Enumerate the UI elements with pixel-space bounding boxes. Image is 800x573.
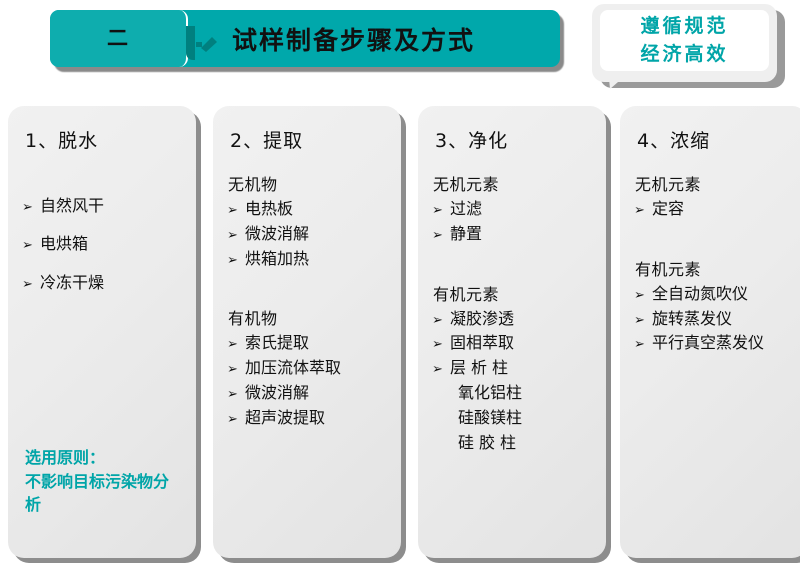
arrow-bullet-icon: ➢ — [634, 201, 652, 221]
step-bullet-list: ➢过滤➢静置 — [432, 197, 596, 247]
step-bullet-label: 旋转蒸发仪 — [652, 307, 732, 332]
arrow-right-icon — [196, 36, 218, 52]
step-card-body: 3、净化无机元素➢过滤➢静置有机元素➢凝胶渗透➢固相萃取➢层析柱氧化铝柱硅酸镁柱… — [418, 106, 606, 558]
step-bullet-item[interactable]: ➢加压流体萃取 — [227, 356, 391, 381]
callout-line-1: 遵循规范 — [640, 13, 728, 41]
step-card-body: 2、提取无机物➢电热板➢微波消解➢烘箱加热有机物➢索氏提取➢加压流体萃取➢微波消… — [213, 106, 401, 558]
note-line-2: 不影响目标污染物分 — [25, 470, 183, 493]
step-sub-item: 硅酸镁柱 — [458, 406, 596, 431]
page-header: 二 试样制备步骤及方式 遵循规范 经济高效 — [0, 0, 800, 96]
step-group-heading: 有机元素 — [635, 256, 798, 280]
step-bullet-item[interactable]: ➢自然风干 — [22, 187, 186, 225]
step-group: 无机元素➢过滤➢静置 — [432, 171, 596, 247]
step-bullet-label: 定容 — [652, 197, 684, 222]
step-card-3[interactable]: 3、净化无机元素➢过滤➢静置有机元素➢凝胶渗透➢固相萃取➢层析柱氧化铝柱硅酸镁柱… — [418, 106, 606, 558]
step-sub-item: 氧化铝柱 — [458, 381, 596, 406]
arrow-bullet-icon: ➢ — [227, 226, 245, 246]
step-bullet-list: ➢定容 — [634, 197, 798, 222]
selection-principle-note: 选用原则：不影响目标污染物分析 — [25, 446, 183, 516]
step-bullet-item[interactable]: ➢冷冻干燥 — [22, 264, 186, 302]
step-card-1[interactable]: 1、脱水➢自然风干➢电烘箱➢冷冻干燥选用原则：不影响目标污染物分析 — [8, 106, 196, 558]
arrow-bullet-icon: ➢ — [227, 385, 245, 405]
step-group: 无机物➢电热板➢微波消解➢烘箱加热 — [227, 171, 391, 271]
step-bullet-item[interactable]: ➢静置 — [432, 222, 596, 247]
step-bullet-item[interactable]: ➢层析柱 — [432, 356, 596, 381]
step-card-2[interactable]: 2、提取无机物➢电热板➢微波消解➢烘箱加热有机物➢索氏提取➢加压流体萃取➢微波消… — [213, 106, 401, 558]
step-bullet-item[interactable]: ➢索氏提取 — [227, 331, 391, 356]
note-line-1: 选用原则： — [25, 446, 183, 469]
step-sub-item: 硅胶柱 — [458, 431, 596, 456]
step-bullet-label: 索氏提取 — [245, 331, 309, 356]
step-bullet-item[interactable]: ➢超声波提取 — [227, 406, 391, 431]
step-card-4[interactable]: 4、浓缩无机元素➢定容有机元素➢全自动氮吹仪➢旋转蒸发仪➢平行真空蒸发仪 — [620, 106, 800, 558]
step-group: 有机元素➢全自动氮吹仪➢旋转蒸发仪➢平行真空蒸发仪 — [634, 256, 798, 356]
step-card-title: 1、脱水 — [25, 126, 186, 153]
callout-tail-icon — [608, 68, 638, 90]
step-group: 有机物➢索氏提取➢加压流体萃取➢微波消解➢超声波提取 — [227, 305, 391, 430]
page-title: 试样制备步骤及方式 — [232, 10, 475, 67]
arrow-bullet-icon: ➢ — [227, 335, 245, 355]
step-group-heading: 有机元素 — [433, 281, 596, 305]
arrow-bullet-icon: ➢ — [432, 226, 450, 246]
step-bullet-item[interactable]: ➢固相萃取 — [432, 331, 596, 356]
step-bullet-label: 过滤 — [450, 197, 482, 222]
step-bullet-item[interactable]: ➢全自动氮吹仪 — [634, 282, 798, 307]
step-bullet-list: ➢凝胶渗透➢固相萃取➢层析柱氧化铝柱硅酸镁柱硅胶柱 — [432, 307, 596, 456]
arrow-bullet-icon: ➢ — [432, 360, 450, 380]
step-group-heading: 无机元素 — [635, 171, 798, 195]
step-bullet-label: 超声波提取 — [245, 406, 325, 431]
step-bullet-label: 静置 — [450, 222, 482, 247]
step-bullet-list: ➢电热板➢微波消解➢烘箱加热 — [227, 197, 391, 271]
step-bullet-list: ➢索氏提取➢加压流体萃取➢微波消解➢超声波提取 — [227, 331, 391, 430]
callout-line-2: 经济高效 — [640, 41, 728, 69]
step-group: 无机元素➢定容 — [634, 171, 798, 222]
step-bullet-item[interactable]: ➢过滤 — [432, 197, 596, 222]
section-number-label: 二 — [107, 28, 129, 49]
step-bullet-label: 微波消解 — [245, 222, 309, 247]
step-bullet-label: 固相萃取 — [450, 331, 514, 356]
arrow-bullet-icon: ➢ — [634, 311, 652, 331]
arrow-bullet-icon: ➢ — [22, 269, 40, 300]
step-group: ➢自然风干➢电烘箱➢冷冻干燥 — [22, 187, 186, 302]
step-card-body: 1、脱水➢自然风干➢电烘箱➢冷冻干燥选用原则：不影响目标污染物分析 — [8, 106, 196, 558]
step-bullet-label: 烘箱加热 — [245, 247, 309, 272]
arrow-bullet-icon: ➢ — [432, 335, 450, 355]
steps-card-row: 1、脱水➢自然风干➢电烘箱➢冷冻干燥选用原则：不影响目标污染物分析2、提取无机物… — [0, 100, 800, 573]
step-bullet-item[interactable]: ➢电烘箱 — [22, 225, 186, 263]
step-group: 有机元素➢凝胶渗透➢固相萃取➢层析柱氧化铝柱硅酸镁柱硅胶柱 — [432, 281, 596, 456]
step-bullet-item[interactable]: ➢烘箱加热 — [227, 247, 391, 272]
arrow-bullet-icon: ➢ — [432, 311, 450, 331]
step-bullet-item[interactable]: ➢旋转蒸发仪 — [634, 307, 798, 332]
step-bullet-item[interactable]: ➢平行真空蒸发仪 — [634, 331, 798, 356]
step-group-heading: 无机物 — [228, 171, 391, 195]
step-bullet-label: 电热板 — [245, 197, 293, 222]
step-bullet-label: 层析柱 — [450, 356, 513, 381]
arrow-bullet-icon: ➢ — [227, 360, 245, 380]
section-number-tab[interactable]: 二 — [50, 10, 188, 67]
step-bullet-label: 平行真空蒸发仪 — [652, 331, 764, 356]
step-card-title: 4、浓缩 — [637, 126, 798, 153]
step-card-title: 2、提取 — [230, 126, 391, 153]
arrow-bullet-icon: ➢ — [634, 286, 652, 306]
step-bullet-item[interactable]: ➢凝胶渗透 — [432, 307, 596, 332]
step-bullet-item[interactable]: ➢微波消解 — [227, 222, 391, 247]
arrow-bullet-icon: ➢ — [227, 410, 245, 430]
step-bullet-label: 凝胶渗透 — [450, 307, 514, 332]
step-bullet-label: 冷冻干燥 — [40, 264, 104, 302]
step-group-heading: 有机物 — [228, 305, 391, 329]
step-bullet-label: 微波消解 — [245, 381, 309, 406]
step-bullet-label: 自然风干 — [40, 187, 104, 225]
step-bullet-item[interactable]: ➢微波消解 — [227, 381, 391, 406]
step-card-body: 4、浓缩无机元素➢定容有机元素➢全自动氮吹仪➢旋转蒸发仪➢平行真空蒸发仪 — [620, 106, 800, 558]
step-card-title: 3、净化 — [435, 126, 596, 153]
arrow-bullet-icon: ➢ — [432, 201, 450, 221]
step-bullet-item[interactable]: ➢定容 — [634, 197, 798, 222]
note-line-3: 析 — [25, 493, 183, 516]
step-bullet-label: 加压流体萃取 — [245, 356, 341, 381]
callout-badge-text: 遵循规范 经济高效 — [600, 10, 769, 71]
arrow-bullet-icon: ➢ — [227, 251, 245, 271]
arrow-bullet-icon: ➢ — [22, 230, 40, 261]
arrow-bullet-icon: ➢ — [227, 201, 245, 221]
tab-hook-divider — [186, 26, 195, 60]
step-bullet-label: 全自动氮吹仪 — [652, 282, 748, 307]
step-bullet-item[interactable]: ➢电热板 — [227, 197, 391, 222]
step-bullet-list: ➢全自动氮吹仪➢旋转蒸发仪➢平行真空蒸发仪 — [634, 282, 798, 356]
arrow-bullet-icon: ➢ — [22, 192, 40, 223]
step-bullet-label: 电烘箱 — [40, 225, 88, 263]
step-bullet-list: ➢自然风干➢电烘箱➢冷冻干燥 — [22, 187, 186, 302]
step-group-heading: 无机元素 — [433, 171, 596, 195]
arrow-bullet-icon: ➢ — [634, 335, 652, 355]
